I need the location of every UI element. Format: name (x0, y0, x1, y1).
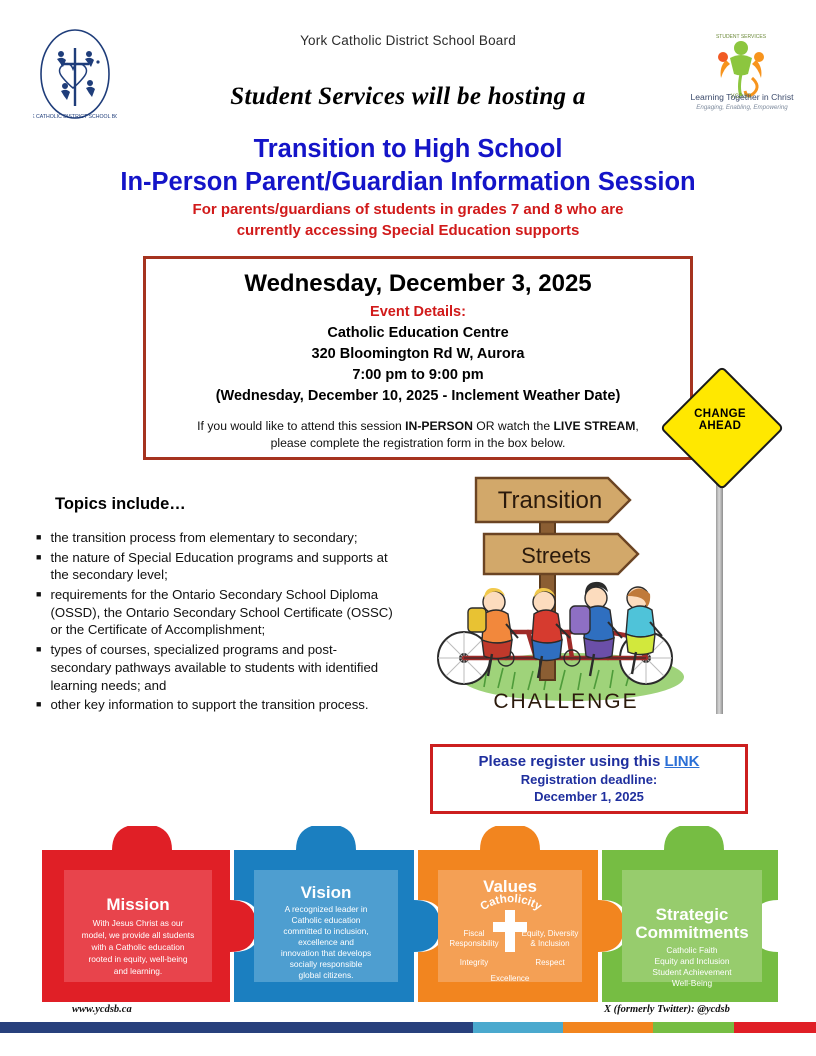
svg-text:YORK CATHOLIC DISTRICT SCHOOL: YORK CATHOLIC DISTRICT SCHOOL BOARD (33, 114, 117, 120)
topics-list: ■ the transition process from elementary… (36, 529, 396, 716)
topics-heading: Topics include… (55, 495, 186, 514)
audience-subtitle-line1: For parents/guardians of students in gra… (0, 200, 816, 221)
color-bar-teal (473, 1022, 563, 1033)
sign-text: CHANGE AHEAD (672, 408, 768, 433)
registration-line-pre: Please register using this (479, 753, 665, 770)
sign-text-line2: AHEAD (672, 420, 768, 432)
svg-text:socially responsible: socially responsible (290, 959, 363, 969)
registration-deadline: Registration deadline: December 1, 2025 (521, 772, 658, 805)
svg-text:Catholic education: Catholic education (292, 915, 361, 925)
list-item: ■ types of courses, specialized programs… (36, 641, 396, 694)
svg-text:Respect: Respect (535, 958, 565, 967)
event-details-box: Wednesday, December 3, 2025 Event Detail… (143, 256, 693, 460)
svg-text:Excellence: Excellence (491, 974, 530, 983)
transition-streets-clipart: Transition Streets (432, 462, 698, 718)
sign-post (716, 458, 723, 714)
svg-text:Student Achievement: Student Achievement (652, 967, 732, 977)
svg-text:A recognized leader in: A recognized leader in (285, 904, 368, 914)
svg-text:Responsibility: Responsibility (449, 939, 498, 948)
registration-line: Please register using this LINK (479, 753, 700, 770)
clip-sign-bottom-label: Streets (521, 543, 591, 568)
svg-text:With Jesus Christ as our: With Jesus Christ as our (93, 918, 184, 928)
mission-vision-values-puzzle: Mission With Jesus Christ as our model, … (42, 826, 778, 1008)
footer-social-handle[interactable]: X (formerly Twitter): @ycdsb (604, 1004, 730, 1015)
list-item: ■ the nature of Special Education progra… (36, 549, 396, 584)
event-note-mid: OR watch the (473, 419, 554, 433)
main-title-line1: Transition to High School (0, 133, 816, 166)
svg-text:and learning.: and learning. (114, 966, 162, 976)
svg-text:rooted in equity, well-being: rooted in equity, well-being (88, 954, 187, 964)
registration-link[interactable]: LINK (664, 753, 699, 770)
svg-text:& Inclusion: & Inclusion (530, 939, 569, 948)
svg-text:Fiscal: Fiscal (464, 929, 485, 938)
list-item-text: the nature of Special Education programs… (50, 549, 396, 584)
svg-text:Equity and Inclusion: Equity and Inclusion (655, 956, 730, 966)
square-bullet-icon: ■ (36, 641, 41, 694)
svg-text:model, we provide all students: model, we provide all students (82, 930, 195, 940)
registration-deadline-label: Registration deadline: (521, 772, 658, 788)
script-headline: Student Services will be hosting a (0, 83, 816, 111)
flyer-page: York Catholic District School Board YORK… (0, 0, 816, 1056)
svg-text:committed to inclusion,: committed to inclusion, (283, 926, 368, 936)
event-time: 7:00 pm to 9:00 pm (146, 365, 690, 386)
event-note-post: , (635, 419, 638, 433)
event-alt-date: (Wednesday, December 10, 2025 - Inclemen… (146, 386, 690, 407)
footer-website[interactable]: www.ycdsb.ca (72, 1004, 132, 1015)
square-bullet-icon: ■ (36, 529, 41, 547)
square-bullet-icon: ■ (36, 696, 41, 714)
event-details-label: Event Details: (146, 304, 690, 320)
list-item-text: requirements for the Ontario Secondary S… (50, 586, 396, 639)
puzzle-title-mission: Mission (106, 895, 169, 914)
color-bar-red (734, 1022, 816, 1033)
sign-text-line1: CHANGE (672, 408, 768, 420)
color-bar-orange (563, 1022, 653, 1033)
svg-text:innovation that develops: innovation that develops (281, 948, 371, 958)
svg-text:with a Catholic education: with a Catholic education (90, 942, 184, 952)
event-note-livestream: LIVE STREAM (553, 419, 635, 433)
clip-caption: CHALLENGE (493, 690, 638, 713)
main-title: Transition to High School In-Person Pare… (0, 133, 816, 199)
svg-text:Catholic Faith: Catholic Faith (666, 945, 718, 955)
audience-subtitle-line2: currently accessing Special Education su… (0, 221, 816, 242)
puzzle-piece-strategic-commitments: Strategic Commitments Catholic Faith Equ… (602, 826, 778, 1002)
svg-text:Integrity: Integrity (460, 958, 488, 967)
puzzle-title-strategic-2: Commitments (635, 923, 748, 942)
list-item: ■ the transition process from elementary… (36, 529, 396, 547)
event-address: 320 Bloomington Rd W, Aurora (146, 344, 690, 365)
puzzle-title-strategic-1: Strategic (656, 905, 729, 924)
color-bar-navy (0, 1022, 473, 1033)
svg-text:global citizens.: global citizens. (299, 970, 354, 980)
event-note-pre: If you would like to attend this session (197, 419, 405, 433)
registration-deadline-date: December 1, 2025 (521, 789, 658, 805)
list-item: ■ requirements for the Ontario Secondary… (36, 586, 396, 639)
puzzle-title-vision: Vision (301, 883, 352, 902)
event-location-block: Catholic Education Centre 320 Bloomingto… (146, 323, 690, 407)
square-bullet-icon: ■ (36, 549, 41, 584)
svg-text:Equity, Diversity: Equity, Diversity (522, 929, 579, 938)
list-item: ■ other key information to support the t… (36, 696, 396, 714)
square-bullet-icon: ■ (36, 586, 41, 639)
event-note-inperson: IN-PERSON (405, 419, 473, 433)
event-date: Wednesday, December 3, 2025 (146, 270, 690, 298)
event-note: If you would like to attend this session… (146, 418, 690, 453)
registration-box: Please register using this LINK Registra… (430, 744, 748, 814)
color-bar-green (653, 1022, 735, 1033)
svg-text:Well-Being: Well-Being (672, 978, 713, 988)
clip-sign-top-label: Transition (498, 487, 602, 514)
footer-color-bar (0, 1022, 816, 1033)
puzzle-piece-mission: Mission With Jesus Christ as our model, … (42, 826, 256, 1002)
svg-text:STUDENT SERVICES: STUDENT SERVICES (716, 34, 767, 40)
list-item-text: types of courses, specialized programs a… (50, 641, 396, 694)
svg-text:excellence and: excellence and (298, 937, 354, 947)
puzzle-piece-vision: Vision A recognized leader in Catholic e… (234, 826, 440, 1002)
list-item-text: the transition process from elementary t… (50, 529, 357, 547)
main-title-line2: In-Person Parent/Guardian Information Se… (0, 166, 816, 199)
audience-subtitle: For parents/guardians of students in gra… (0, 200, 816, 241)
list-item-text: other key information to support the tra… (50, 696, 368, 714)
puzzle-piece-values: Values Catholicity Fiscal Responsibility… (418, 826, 624, 1002)
event-note-line2: please complete the registration form in… (160, 435, 676, 452)
event-venue: Catholic Education Centre (146, 323, 690, 344)
